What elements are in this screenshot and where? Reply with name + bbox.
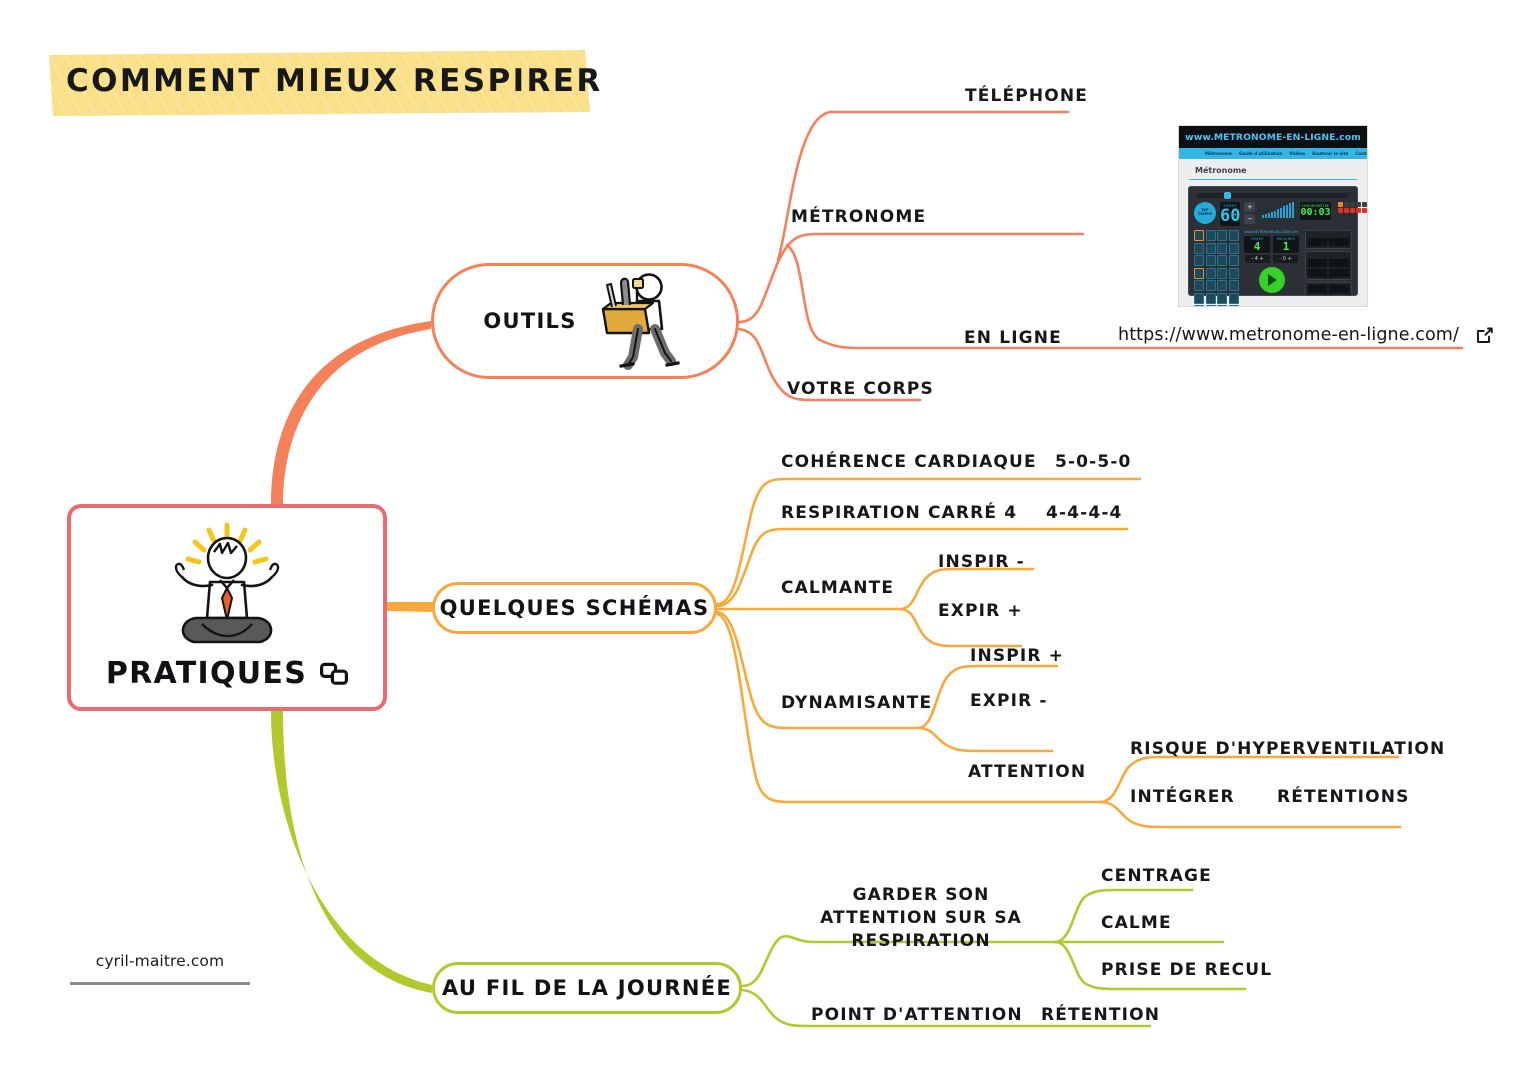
right-block-2-header <box>1308 254 1350 258</box>
tap-tempo-button[interactable]: TAP TEMPO <box>1194 202 1216 224</box>
chronometer-display: CHRONOMÈTRE 00:03 <box>1300 202 1330 220</box>
tempo-value: 60 <box>1220 208 1240 225</box>
label-calmante-inspir[interactable]: INSPIR - <box>938 552 1025 572</box>
label-telephone[interactable]: TÉLÉPHONE <box>965 86 1088 106</box>
label-en-ligne[interactable]: EN LIGNE <box>964 328 1062 348</box>
right-block-1-cells[interactable] <box>1308 238 1350 246</box>
branch-node-quelques-schemas[interactable]: QUELQUES SCHÉMAS <box>432 582 717 634</box>
branch-node-au-fil-de-la-journee[interactable]: AU FIL DE LA JOURNÉE <box>432 962 742 1014</box>
link-schemas-carre <box>717 529 1127 606</box>
temps-display: TEMPS 4 <box>1244 236 1270 253</box>
external-link-icon[interactable] <box>1475 326 1494 345</box>
changer-mesure-stepper[interactable]: - 0 + <box>1273 255 1298 263</box>
trunk-schemas-stub <box>387 602 435 611</box>
play-button[interactable] <box>1259 267 1285 293</box>
branch-node-outils-label: OUTILS <box>483 309 576 333</box>
label-votre-corps[interactable]: VOTRE CORPS <box>787 379 934 399</box>
metronome-nav-item-0[interactable]: Métronome <box>1205 151 1232 156</box>
label-calme[interactable]: CALME <box>1101 913 1172 933</box>
beat-measure-displays: TEMPS 4 MESURES 1 <box>1243 236 1301 253</box>
play-triangle-icon <box>1268 274 1277 286</box>
metronome-url-row[interactable]: https://www.metronome-en-ligne.com/ <box>1118 325 1494 345</box>
person-carrying-toolbox-illustration <box>583 271 687 371</box>
label-risque-hyperventilation[interactable]: RISQUE D'HYPERVENTILATION <box>1130 739 1445 759</box>
metronome-page-title: Métronome <box>1179 159 1367 179</box>
right-block-1 <box>1305 230 1353 249</box>
label-dynamisante-inspir[interactable]: INSPIR + <box>970 646 1064 666</box>
central-node[interactable]: PRATIQUES <box>67 504 387 711</box>
metronome-panel: TAP TEMPO TEMPO 60 + − CHRONOMÈTRE 00:03 <box>1188 186 1358 296</box>
chronometer-value: 00:03 <box>1300 208 1330 218</box>
page-title-block: COMMENT MIEUX RESPIRER <box>44 46 592 120</box>
temps-value: 4 <box>1254 241 1261 252</box>
metronome-nav-item-1[interactable]: Guide d'utilisation <box>1239 151 1282 156</box>
footer-attribution: cyril-maitre.com <box>70 952 250 985</box>
branch-node-schemas-label: QUELQUES SCHÉMAS <box>440 596 710 620</box>
link-metronome-telephone <box>778 112 1068 260</box>
value-retentions: RÉTENTIONS <box>1277 787 1409 807</box>
page-title: COMMENT MIEUX RESPIRER <box>66 63 603 99</box>
beat-led-matrix <box>1338 202 1368 226</box>
tempo-display: TEMPO 60 <box>1220 202 1240 226</box>
metronome-url-text[interactable]: https://www.metronome-en-ligne.com/ <box>1118 325 1459 345</box>
meditating-person-illustration <box>152 522 302 650</box>
label-metronome[interactable]: MÉTRONOME <box>791 207 926 227</box>
label-garder-son-attention[interactable]: GARDER SON ATTENTION SUR SA RESPIRATION <box>806 884 1036 953</box>
trunk-outils <box>271 321 431 505</box>
label-integrer[interactable]: INTÉGRER <box>1130 787 1235 807</box>
link-reference-icon[interactable] <box>320 662 348 686</box>
branch-node-journee-label: AU FIL DE LA JOURNÉE <box>442 976 732 1000</box>
metronome-inline-url: www.METRONOME-EN-LIGNE.com <box>1243 230 1301 234</box>
value-coherence-cardiaque: 5-0-5-0 <box>1055 452 1132 472</box>
right-block-2 <box>1305 251 1353 280</box>
label-dynamisante-expir[interactable]: EXPIR - <box>970 691 1048 711</box>
central-node-label-row: PRATIQUES <box>71 656 383 691</box>
right-block-3-cells[interactable] <box>1308 285 1350 293</box>
link-dynamisante-expir <box>918 728 1052 751</box>
label-calmante-expir[interactable]: EXPIR + <box>938 601 1023 621</box>
metronome-right-column <box>1305 230 1353 307</box>
footer-attribution-text[interactable]: cyril-maitre.com <box>70 952 250 970</box>
right-block-3 <box>1305 282 1353 296</box>
metronome-lower-row: www.METRONOME-EN-LIGNE.com TEMPS 4 MESUR… <box>1194 230 1352 307</box>
metronome-center-column: www.METRONOME-EN-LIGNE.com TEMPS 4 MESUR… <box>1243 230 1301 307</box>
metronome-screenshot-attachment[interactable]: www.METRONOME-EN-LIGNE.com Métronome Gui… <box>1178 125 1368 307</box>
label-prise-de-recul[interactable]: PRISE DE RECUL <box>1101 960 1272 980</box>
temps-par-mesure-stepper[interactable]: - 4 + <box>1245 255 1270 263</box>
tempo-minus-button[interactable]: − <box>1244 214 1255 224</box>
led-row-top <box>1338 202 1368 207</box>
metronome-nav-item-2[interactable]: Vidéos <box>1289 151 1305 156</box>
label-calmante[interactable]: CALMANTE <box>781 578 894 598</box>
value-retention: RÉTENTION <box>1041 1005 1160 1025</box>
label-centrage[interactable]: CENTRAGE <box>1101 866 1212 886</box>
value-respiration-carre-4: 4-4-4-4 <box>1046 503 1123 523</box>
central-node-label: PRATIQUES <box>106 656 307 691</box>
metronome-rule <box>1189 179 1357 180</box>
metronome-nav-bar[interactable]: Métronome Guide d'utilisation Vidéos Sou… <box>1179 148 1367 159</box>
measure-steppers[interactable]: - 4 + - 0 + <box>1243 255 1301 263</box>
trunk-journee <box>271 711 432 993</box>
mesures-display: MESURES 1 <box>1273 236 1299 253</box>
metronome-nav-item-4[interactable]: Contact <box>1355 151 1368 156</box>
tempo-bargraph <box>1262 202 1294 218</box>
metronome-nav-item-3[interactable]: Soutenir le site <box>1312 151 1348 156</box>
right-block-1-header <box>1308 233 1350 237</box>
footer-rule <box>70 982 250 985</box>
label-dynamisante[interactable]: DYNAMISANTE <box>781 693 932 713</box>
rhythm-pattern-grid[interactable] <box>1194 230 1239 307</box>
label-respiration-carre-4[interactable]: RESPIRATION CARRÉ 4 <box>781 503 1017 523</box>
mindmap-canvas: COMMENT MIEUX RESPIRER <box>0 0 1525 1089</box>
led-row-bottom <box>1338 208 1368 213</box>
right-block-2-cells[interactable] <box>1308 259 1350 267</box>
mesures-value: 1 <box>1283 241 1290 252</box>
tempo-stepper[interactable]: + − <box>1244 202 1255 226</box>
label-coherence-cardiaque[interactable]: COHÉRENCE CARDIAQUE <box>781 452 1037 472</box>
slider-thumb[interactable] <box>1224 192 1231 199</box>
label-point-dattention[interactable]: POINT D'ATTENTION <box>811 1005 1023 1025</box>
metronome-tempo-slider[interactable] <box>1197 193 1349 198</box>
label-attention[interactable]: ATTENTION <box>968 762 1086 782</box>
tempo-plus-button[interactable]: + <box>1244 202 1255 212</box>
branch-node-outils[interactable]: OUTILS <box>431 263 739 379</box>
metronome-top-row: TAP TEMPO TEMPO 60 + − CHRONOMÈTRE 00:03 <box>1194 202 1352 226</box>
metronome-brand-bar: www.METRONOME-EN-LIGNE.com <box>1179 126 1367 148</box>
right-block-2-cells-b[interactable] <box>1308 269 1350 277</box>
